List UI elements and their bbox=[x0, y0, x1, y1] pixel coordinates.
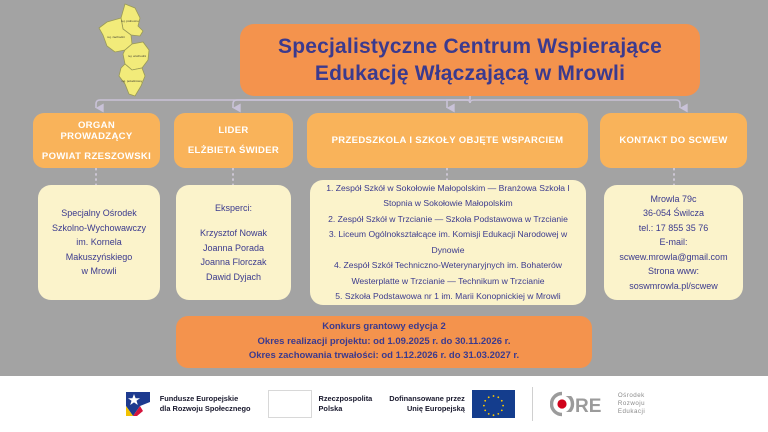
card-eksperci-name-1: Krzysztof Nowak bbox=[200, 226, 267, 241]
chip-kontakt-label: KONTAKT DO SCWEW bbox=[619, 135, 727, 146]
chip-lider-line1: LIDER bbox=[218, 125, 248, 136]
ore-wordmark-icon: RE bbox=[550, 391, 612, 417]
card-organ-prowadzacy: Specjalny Ośrodek Szkolno-Wychowawczy im… bbox=[38, 185, 160, 300]
page-title: Specjalistyczne Centrum Wspierające Eduk… bbox=[278, 33, 662, 87]
card-organ-line-5: w Mrowli bbox=[82, 264, 117, 279]
card-eksperci: Eksperci: Krzysztof Nowak Joanna Porada … bbox=[176, 185, 291, 300]
rzeczpospolita-polska-logo: Rzeczpospolita Polska bbox=[268, 390, 373, 418]
chip-szkoly-label: PRZEDSZKOLA I SZKOŁY OBJĘTE WSPARCIEM bbox=[332, 135, 564, 146]
banner-line1: Konkurs grantowy edycja 2 bbox=[322, 320, 446, 335]
list-item: 4. Zespół Szkół Techniczno-Weterynaryjny… bbox=[316, 258, 580, 289]
unia-europejska-logo: Dofinansowane przez Unię Europejską bbox=[389, 390, 515, 418]
kontakt-address: Mrowla 79c bbox=[650, 192, 696, 207]
chip-organ-line2: POWIAT RZESZOWSKI bbox=[42, 151, 151, 162]
card-kontakt: Mrowla 79c 36-054 Świlcza tel.: 17 855 3… bbox=[604, 185, 743, 300]
ore-logo: RE Ośrodek Rozwoju Edukacji bbox=[550, 391, 645, 417]
card-organ-line-2: Szkolno-Wychowawczy bbox=[52, 221, 146, 236]
list-item: 5. Szkoła Podstawowa nr 1 im. Marii Kono… bbox=[335, 289, 560, 305]
banner-konkurs-grantowy: Konkurs grantowy edycja 2 Okres realizac… bbox=[176, 316, 592, 368]
svg-text:rej. zachodni: rej. zachodni bbox=[107, 35, 125, 39]
svg-text:RE: RE bbox=[575, 396, 601, 417]
kontakt-phone: tel.: 17 855 35 76 bbox=[639, 221, 709, 236]
kontakt-email-value[interactable]: scwew.mrowla@gmail.com bbox=[619, 250, 727, 265]
kontakt-postcode-city: 36-054 Świlcza bbox=[643, 206, 704, 221]
svg-text:rej. północno: rej. północno bbox=[121, 19, 139, 23]
svg-text:rej. południowy: rej. południowy bbox=[122, 79, 143, 83]
unia-europejska-label: Dofinansowane przez Unię Europejską bbox=[389, 394, 465, 413]
ore-sublabel: Ośrodek Rozwoju Edukacji bbox=[618, 392, 645, 417]
card-organ-line-1: Specjalny Ośrodek bbox=[61, 206, 137, 221]
list-item: 2. Zespół Szkół w Trzcianie — Szkoła Pod… bbox=[328, 212, 568, 228]
banner-line3: Okres zachowania trwałości: od 1.12.2026… bbox=[249, 349, 519, 364]
fundusze-europejskie-label: Fundusze Europejskie dla Rozwoju Społecz… bbox=[160, 394, 251, 413]
page-title-line2: Edukację Włączającą w Mrowli bbox=[278, 60, 662, 87]
chip-przedszkola-i-szkoly[interactable]: PRZEDSZKOLA I SZKOŁY OBJĘTE WSPARCIEM bbox=[307, 113, 588, 168]
podkarpackie-region-map-icon: rej. północno rej. zachodni rej. wschodn… bbox=[85, 2, 173, 100]
kontakt-email-label: E-mail: bbox=[659, 235, 687, 250]
footer-logo-bar: Fundusze Europejskie dla Rozwoju Społecz… bbox=[0, 376, 768, 432]
card-eksperci-name-4: Dawid Dyjach bbox=[206, 270, 261, 285]
main-title-box: Specjalistyczne Centrum Wspierające Eduk… bbox=[240, 24, 700, 96]
chip-organ-prowadzacy[interactable]: ORGAN PROWADZĄCY POWIAT RZESZOWSKI bbox=[33, 113, 160, 168]
chip-organ-line1: ORGAN PROWADZĄCY bbox=[41, 120, 152, 142]
card-eksperci-name-2: Joanna Porada bbox=[203, 241, 264, 256]
card-eksperci-heading: Eksperci: bbox=[215, 201, 252, 216]
eu-flag-icon bbox=[472, 390, 515, 418]
chip-lider[interactable]: LIDER ELŻBIETA ŚWIDER bbox=[174, 113, 293, 168]
card-eksperci-name-3: Joanna Florczak bbox=[200, 255, 266, 270]
kontakt-website-label: Strona www: bbox=[648, 264, 699, 279]
card-lista-szkol: 1. Zespół Szkół w Sokołowie Małopolskim … bbox=[310, 180, 586, 305]
fundusze-europejskie-icon bbox=[123, 389, 153, 419]
list-item: 1. Zespół Szkół w Sokołowie Małopolskim … bbox=[316, 181, 580, 212]
card-organ-line-4: Makuszyńskiego bbox=[66, 250, 133, 265]
fundusze-europejskie-logo: Fundusze Europejskie dla Rozwoju Społecz… bbox=[123, 389, 251, 419]
svg-text:rej. wschodni: rej. wschodni bbox=[128, 54, 146, 58]
footer-divider bbox=[532, 387, 533, 421]
banner-line2: Okres realizacji projektu: od 1.09.2025 … bbox=[258, 335, 511, 350]
list-item: 3. Liceum Ogólnokształcące im. Komisji E… bbox=[316, 227, 580, 258]
infographic-canvas: rej. północno rej. zachodni rej. wschodn… bbox=[0, 0, 768, 432]
poland-flag-icon bbox=[268, 390, 312, 418]
card-organ-line-3: im. Kornela bbox=[76, 235, 122, 250]
kontakt-website-value[interactable]: soswmrowla.pl/scwew bbox=[629, 279, 718, 294]
chip-lider-line2: ELŻBIETA ŚWIDER bbox=[188, 145, 279, 156]
rzeczpospolita-polska-label: Rzeczpospolita Polska bbox=[319, 394, 373, 413]
chip-kontakt-do-scwew[interactable]: KONTAKT DO SCWEW bbox=[600, 113, 747, 168]
page-title-line1: Specjalistyczne Centrum Wspierające bbox=[278, 33, 662, 60]
